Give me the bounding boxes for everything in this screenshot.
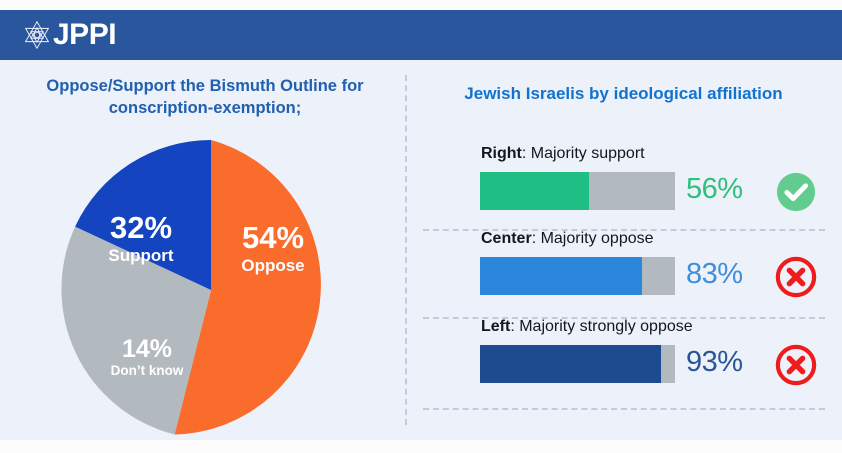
star-of-david-icon xyxy=(22,20,52,50)
ideology-row-center-group: Center xyxy=(481,230,532,247)
brand-logo: JPPI xyxy=(22,20,116,50)
x-circle-icon xyxy=(775,256,817,298)
ideology-row-left-description: : Majority strongly oppose xyxy=(510,318,692,335)
ideology-row-center: Center: Majority oppose 83% xyxy=(423,230,825,312)
ideology-section: Jewish Israelis by ideological affiliati… xyxy=(405,60,842,440)
infographic-panel: Oppose/Support the Bismuth Outline for c… xyxy=(0,60,842,440)
brand-name: JPPI xyxy=(53,20,116,50)
ideology-row-right-description: : Majority support xyxy=(522,145,645,162)
ideology-row-center-description: : Majority oppose xyxy=(532,230,654,247)
app-header: JPPI xyxy=(0,10,842,60)
ideology-row-center-bar-track xyxy=(480,257,675,295)
ideology-row-center-bar-fill xyxy=(480,257,642,295)
ideology-row-right: Right: Majority support 56% xyxy=(423,145,825,227)
ideology-row-left-heading: Left: Majority strongly oppose xyxy=(481,318,693,336)
ideology-row-left-bar-fill xyxy=(480,345,661,383)
ideology-row-left-percent: 93% xyxy=(686,346,743,379)
row-separator xyxy=(423,408,825,410)
ideology-row-right-bar-fill xyxy=(480,172,589,210)
ideology-row-center-heading: Center: Majority oppose xyxy=(481,230,654,248)
ideology-row-left-bar-track xyxy=(480,345,675,383)
ideology-row-right-group: Right xyxy=(481,145,522,162)
check-circle-icon xyxy=(775,171,817,213)
ideology-row-right-percent: 56% xyxy=(686,173,743,206)
ideology-row-left: Left: Majority strongly oppose 93% xyxy=(423,318,825,400)
pie-chart: 54% Oppose 32% Support 14% Don’t know xyxy=(61,140,361,440)
ideology-row-left-group: Left xyxy=(481,318,510,335)
pie-section: Oppose/Support the Bismuth Outline for c… xyxy=(0,60,405,440)
ideology-row-center-percent: 83% xyxy=(686,258,743,291)
ideology-row-right-heading: Right: Majority support xyxy=(481,145,645,163)
ideology-section-title: Jewish Israelis by ideological affiliati… xyxy=(405,82,842,105)
pie-chart-title: Oppose/Support the Bismuth Outline for c… xyxy=(30,75,380,120)
x-circle-icon xyxy=(775,344,817,386)
ideology-row-right-bar-track xyxy=(480,172,675,210)
